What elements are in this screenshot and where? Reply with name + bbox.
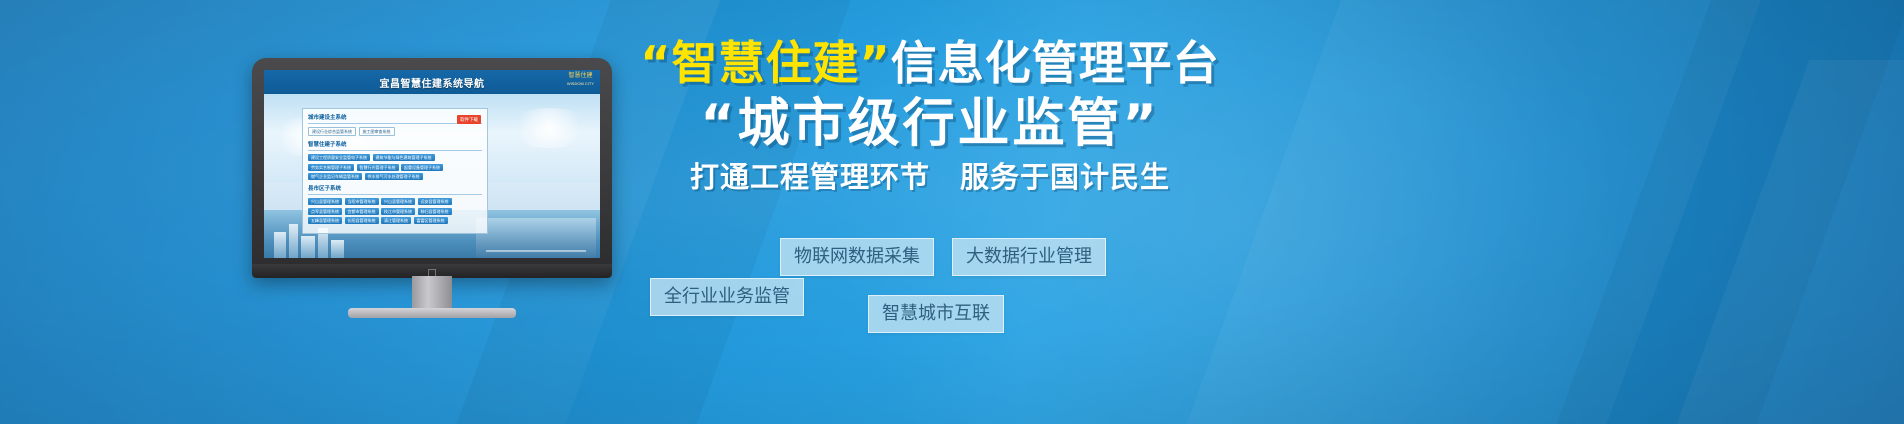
- building-shape: [289, 224, 298, 258]
- headline-quote-close: ”: [860, 36, 891, 90]
- screen-nav-button[interactable]: 枝江市管理系统: [381, 208, 415, 215]
- screen-nav-button[interactable]: 富富区管理系统: [414, 217, 448, 224]
- tag-industry-supervision[interactable]: 全行业业务监管: [650, 278, 804, 316]
- screen-nav-button[interactable]: 长阳县管理系统: [345, 217, 379, 224]
- tag-iot-data-collection[interactable]: 物联网数据采集: [780, 238, 934, 276]
- screen-logo-line1: 智慧住建: [568, 73, 592, 79]
- screen-header-title: 宜昌智慧住建系统导航: [380, 75, 485, 90]
- screen-nav-panel: 软件下载 城市建设主系统 建设行业综合监管系统 施工图审查系统 智慧住建子系统 …: [302, 108, 488, 234]
- headline-highlight-text: 智慧住建: [672, 36, 860, 90]
- screen-nav-button[interactable]: 供水排气污水处理管理子系统: [365, 173, 423, 180]
- screen-section-buttons: 建设行业综合监管系统 施工图审查系统: [308, 127, 482, 136]
- headline-quote-open: “: [640, 36, 671, 90]
- bridge-shape: [476, 218, 596, 258]
- screen-nav-button[interactable]: 当阳市管理系统: [345, 198, 379, 205]
- headline-line-3: 打通工程管理环节 服务于国计民生: [640, 156, 1220, 198]
- cloud-shape: [504, 108, 594, 148]
- hero-banner: 宜昌智慧住建系统导航 智慧住建 WISDOM CITY: [0, 0, 1904, 424]
- screen-nav-button[interactable]: 宜都市管理系统: [345, 208, 379, 215]
- screen-nav-button[interactable]: 兴山县管理系统: [308, 198, 342, 205]
- building-shape: [331, 240, 344, 258]
- building-shape: [274, 232, 286, 258]
- screen-nav-button[interactable]: 施工图审查系统: [359, 127, 395, 136]
- screen-header-bar: 宜昌智慧住建系统导航 智慧住建 WISDOM CITY: [264, 70, 600, 94]
- monitor-stand-base: [348, 308, 516, 318]
- screen-section-buttons: 兴山县管理系统 当阳市管理系统 兴山县管理系统 远安县管理系统 点军县管理系统 …: [308, 198, 482, 224]
- screen-nav-button[interactable]: 燃气企业监记车辆监管系统: [308, 173, 362, 180]
- screen-section-title: 智慧住建子系统: [308, 140, 482, 151]
- screen-nav-button[interactable]: 智慧行光管理子系统: [357, 164, 399, 171]
- screen-nav-button[interactable]: 起重设备管理子系统: [401, 164, 443, 171]
- screen-section-buttons: 建设工程质量安全监管电子系统 建筑节能与绿色建筑管理子系统 劳务实名制管理子系统…: [308, 154, 482, 180]
- headline-line-1: “智慧住建”信息化管理平台: [640, 34, 1220, 92]
- screen-nav-button[interactable]: 清江管理系统: [381, 217, 411, 224]
- headline-line-2: “城市级行业监管”: [640, 92, 1220, 156]
- imac-monitor-illustration: 宜昌智慧住建系统导航 智慧住建 WISDOM CITY: [252, 58, 612, 310]
- software-download-button[interactable]: 软件下载: [457, 115, 481, 124]
- screen-section-title: 县市区子系统: [308, 184, 482, 195]
- screen-nav-button[interactable]: 建设工程质量安全监管电子系统: [308, 154, 370, 161]
- screen-nav-button[interactable]: 远安县管理系统: [418, 198, 452, 205]
- screen-nav-button[interactable]: 秭归县管理系统: [418, 208, 452, 215]
- screen-nav-button[interactable]: 建设行业综合监管系统: [308, 127, 356, 136]
- screen-section-title: 城市建设主系统: [308, 113, 482, 124]
- screen-body: 软件下载 城市建设主系统 建设行业综合监管系统 施工图审查系统 智慧住建子系统 …: [264, 94, 600, 258]
- screen-header-logo: 智慧住建 WISDOM CITY: [567, 73, 594, 88]
- tag-bigdata-management[interactable]: 大数据行业管理: [952, 238, 1106, 276]
- building-shape: [301, 236, 315, 258]
- tag-smart-city-connection[interactable]: 智慧城市互联: [868, 295, 1004, 333]
- monitor-screen: 宜昌智慧住建系统导航 智慧住建 WISDOM CITY: [264, 70, 600, 258]
- screen-nav-button[interactable]: 点军县管理系统: [308, 208, 342, 215]
- screen-nav-button[interactable]: 五峰县管理系统: [308, 217, 342, 224]
- screen-nav-button[interactable]: 建筑节能与绿色建筑管理子系统: [373, 154, 435, 161]
- screen-logo-line2: WISDOM CITY: [567, 81, 594, 86]
- screen-nav-button[interactable]: 兴山县管理系统: [381, 198, 415, 205]
- headline-line1-rest: 信息化管理平台: [891, 36, 1220, 90]
- headline-block: “智慧住建”信息化管理平台 “城市级行业监管” 打通工程管理环节 服务于国计民生: [640, 34, 1220, 198]
- screen-nav-button[interactable]: 劳务实名制管理子系统: [308, 164, 354, 171]
- monitor-bezel: 宜昌智慧住建系统导航 智慧住建 WISDOM CITY: [252, 58, 612, 278]
